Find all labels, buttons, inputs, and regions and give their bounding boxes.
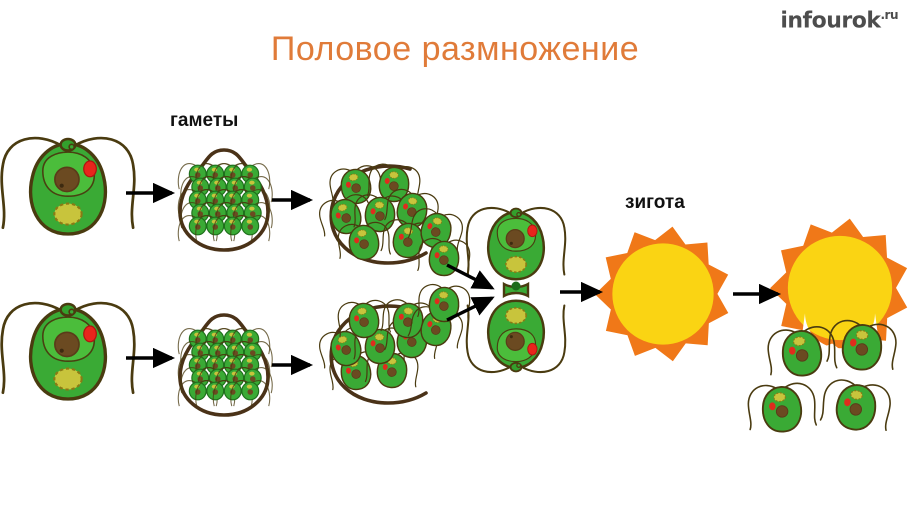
eyespot bbox=[528, 343, 537, 355]
nucleolus bbox=[60, 184, 64, 188]
eyespot bbox=[84, 161, 97, 177]
gamete-sac bbox=[178, 150, 272, 250]
diagram-canvas: infourok.ru Половое размножение гаметы з… bbox=[0, 0, 910, 512]
papilla-dot bbox=[517, 364, 521, 368]
eyespot bbox=[84, 326, 97, 342]
packed-pyrenoid bbox=[247, 385, 252, 389]
gamete-nucleus bbox=[359, 317, 369, 327]
packed-nucleus bbox=[247, 389, 253, 395]
nucleus bbox=[55, 167, 79, 191]
zygote-core bbox=[612, 243, 713, 344]
packed-pyrenoid bbox=[247, 359, 252, 363]
pyrenoid bbox=[54, 204, 81, 225]
chlamydomonas-cell bbox=[467, 208, 566, 279]
nucleus bbox=[506, 332, 524, 350]
nucleus bbox=[506, 230, 524, 248]
gamete-nucleus bbox=[776, 405, 788, 417]
gamete-nucleus bbox=[439, 255, 448, 264]
nucleolus bbox=[510, 335, 513, 338]
gamete-nucleus bbox=[375, 343, 384, 352]
papilla-dot bbox=[69, 309, 74, 314]
packed-pyrenoid bbox=[249, 207, 254, 211]
flow-arrow bbox=[447, 265, 492, 288]
diagram-svg bbox=[0, 0, 910, 512]
fusion-point bbox=[512, 282, 521, 291]
gamete-nucleus bbox=[375, 211, 384, 220]
zygote bbox=[595, 227, 728, 362]
gamete-nucleus bbox=[359, 239, 369, 249]
gamete-fusion bbox=[467, 208, 566, 372]
pyrenoid bbox=[506, 257, 526, 273]
nucleus bbox=[55, 332, 79, 356]
gamete-cell bbox=[820, 378, 893, 435]
packed-pyrenoid bbox=[249, 372, 254, 376]
pyrenoid bbox=[54, 369, 81, 390]
eyespot bbox=[528, 225, 537, 237]
papilla-dot bbox=[517, 213, 521, 217]
gamete-release-cluster bbox=[317, 284, 471, 403]
packed-pyrenoid bbox=[247, 220, 252, 224]
nucleolus bbox=[60, 349, 64, 353]
packed-pyrenoid bbox=[247, 194, 252, 198]
packed-pyrenoid bbox=[249, 346, 254, 350]
gamete-cell bbox=[747, 382, 817, 434]
chlamydomonas-cell bbox=[467, 301, 566, 372]
pyrenoid bbox=[506, 308, 526, 324]
gamete-nucleus bbox=[439, 301, 448, 310]
gamete-release-cluster bbox=[317, 163, 471, 277]
chlamydomonas-cell bbox=[2, 303, 135, 399]
packed-pyrenoid bbox=[249, 181, 254, 185]
nucleolus bbox=[510, 242, 513, 245]
papilla-dot bbox=[69, 144, 74, 149]
packed-pyrenoid bbox=[247, 333, 252, 337]
packed-nucleus bbox=[247, 224, 253, 230]
chlamydomonas-cell bbox=[2, 138, 135, 234]
gamete-sac bbox=[178, 315, 272, 415]
packed-pyrenoid bbox=[247, 168, 252, 172]
